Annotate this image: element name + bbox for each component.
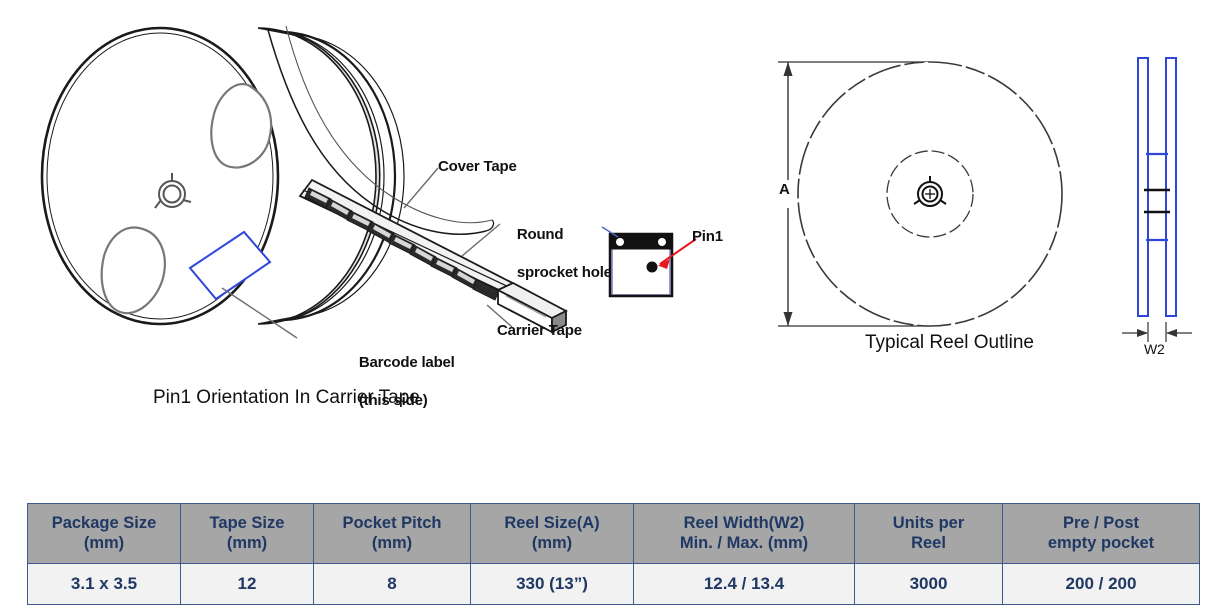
column-header-reel-size: Reel Size(A) (mm) xyxy=(471,504,634,564)
column-header-pre-post-empty-pocket-line2: empty pocket xyxy=(1005,533,1197,553)
cover-tape-film xyxy=(268,26,494,234)
cell-package-size: 3.1 x 3.5 xyxy=(28,564,181,605)
reel-flange-left xyxy=(1138,58,1148,316)
pocket-outline xyxy=(612,247,670,295)
column-header-pocket-pitch-line1: Pocket Pitch xyxy=(316,513,468,533)
pin1-label: Pin1 xyxy=(692,228,723,246)
sprocket-hole-left xyxy=(616,238,624,246)
column-header-package-size-line1: Package Size xyxy=(30,513,178,533)
sprocket-hole-right xyxy=(658,238,666,246)
cell-reel-width: 12.4 / 13.4 xyxy=(634,564,855,605)
reel-flange-right xyxy=(1166,58,1176,316)
cell-reel-size: 330 (13”) xyxy=(471,564,634,605)
dimension-w2-arrow-right xyxy=(1166,329,1177,337)
column-header-tape-size-line1: Tape Size xyxy=(183,513,311,533)
typical-reel-outline-side-view xyxy=(1120,50,1226,370)
right-figure-caption: Typical Reel Outline xyxy=(865,332,1034,354)
column-header-pocket-pitch: Pocket Pitch (mm) xyxy=(314,504,471,564)
cell-pre-post-empty-pocket: 200 / 200 xyxy=(1003,564,1200,605)
column-header-reel-size-line2: (mm) xyxy=(473,533,631,553)
specification-table: Package Size (mm) Tape Size (mm) Pocket … xyxy=(27,503,1200,605)
cell-tape-size: 12 xyxy=(181,564,314,605)
typical-reel-outline-front-view xyxy=(770,50,1070,340)
column-header-package-size: Package Size (mm) xyxy=(28,504,181,564)
barcode-label-leader-line xyxy=(222,288,297,338)
dimension-a-label: A xyxy=(779,181,790,199)
cover-tape-leader-line xyxy=(404,168,438,208)
column-header-package-size-line2: (mm) xyxy=(30,533,178,553)
dimension-w2-label: W2 xyxy=(1144,340,1165,358)
barcode-label-caption-line1: Barcode label xyxy=(359,354,455,371)
column-header-units-per-reel-line2: Reel xyxy=(857,533,1000,553)
carrier-tape-label: Carrier Tape xyxy=(497,322,582,340)
column-header-pre-post-empty-pocket-line1: Pre / Post xyxy=(1005,513,1197,533)
column-header-reel-size-line1: Reel Size(A) xyxy=(473,513,631,533)
cover-tape-label: Cover Tape xyxy=(438,158,517,176)
left-figure-caption: Pin1 Orientation In Carrier Tape xyxy=(153,387,420,409)
column-header-pocket-pitch-line2: (mm) xyxy=(316,533,468,553)
reel-side-band xyxy=(258,28,404,324)
column-header-reel-width-line1: Reel Width(W2) xyxy=(636,513,852,533)
dimension-a-arrow-bottom xyxy=(784,312,793,326)
column-header-tape-size-line2: (mm) xyxy=(183,533,311,553)
pin1-dot xyxy=(647,262,658,273)
sprocket-holes-leader-line xyxy=(462,224,500,256)
round-sprocket-holes-label-line1: Round xyxy=(517,226,563,243)
table-row: 3.1 x 3.5 12 8 330 (13”) 12.4 / 13.4 300… xyxy=(28,564,1200,605)
column-header-units-per-reel: Units per Reel xyxy=(855,504,1003,564)
column-header-reel-width: Reel Width(W2) Min. / Max. (mm) xyxy=(634,504,855,564)
dimension-w2-arrow-left xyxy=(1137,329,1148,337)
table-header-row: Package Size (mm) Tape Size (mm) Pocket … xyxy=(28,504,1200,564)
column-header-reel-width-line2: Min. / Max. (mm) xyxy=(636,533,852,553)
column-header-units-per-reel-line1: Units per xyxy=(857,513,1000,533)
tape-and-reel-specification-page: Cover Tape Round sprocket holes Carrier … xyxy=(0,0,1226,614)
column-header-tape-size: Tape Size (mm) xyxy=(181,504,314,564)
cell-pocket-pitch: 8 xyxy=(314,564,471,605)
barcode-label-caption: Barcode label (this side) xyxy=(343,334,455,429)
dimension-a-arrow-top xyxy=(784,62,793,76)
column-header-pre-post-empty-pocket: Pre / Post empty pocket xyxy=(1003,504,1200,564)
cell-units-per-reel: 3000 xyxy=(855,564,1003,605)
